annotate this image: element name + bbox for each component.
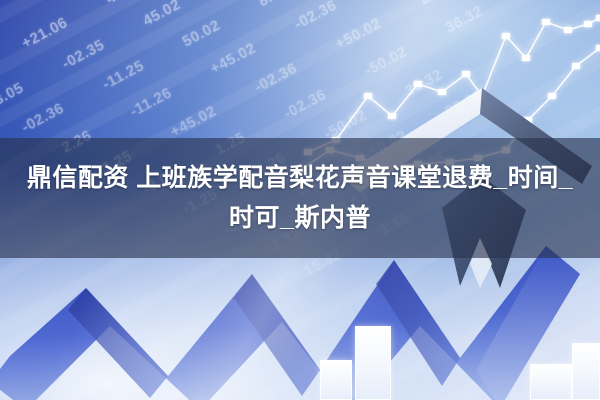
title-line-2: 时可_斯内普 bbox=[229, 199, 371, 237]
title-line-1: 鼎信配资 上班族学配音梨花声音课堂退费_时间_ bbox=[27, 159, 573, 197]
page-title: 鼎信配资 上班族学配音梨花声音课堂退费_时间_ 时可_斯内普 bbox=[0, 138, 600, 258]
banner-image: -02.35+21.0645.00-03.05-02.3545.024.36-0… bbox=[0, 0, 600, 400]
